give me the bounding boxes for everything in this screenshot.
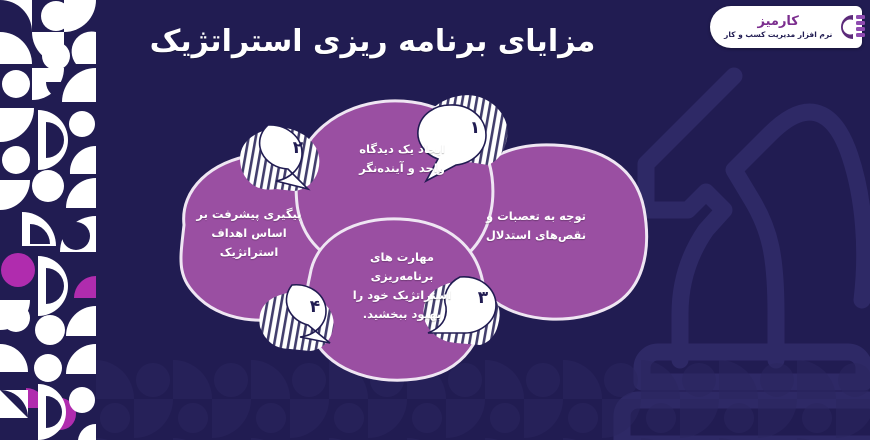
benefits-blob-cluster: ایجاد یک دیدگاه واحد و آینده‌نگر پیگیری …: [150, 85, 670, 385]
karmiz-logo-mark: [834, 12, 866, 42]
logo-name: کارمیز: [758, 15, 799, 30]
bauhaus-pattern-strip: [0, 0, 96, 440]
badge-2: [240, 125, 319, 191]
logo-tagline: نرم افزار مدیریت کسب و کار: [724, 30, 832, 39]
page-title: مزایای برنامه ریزی استراتژیک: [140, 22, 605, 61]
blob-shapes: [150, 85, 670, 385]
logo-text-block: کارمیز نرم افزار مدیریت کسب و کار: [724, 15, 832, 39]
brand-logo[interactable]: کارمیز نرم افزار مدیریت کسب و کار: [710, 6, 862, 48]
infographic-canvas: مزایای برنامه ریزی استراتژیک کارمیز نرم …: [0, 0, 870, 440]
